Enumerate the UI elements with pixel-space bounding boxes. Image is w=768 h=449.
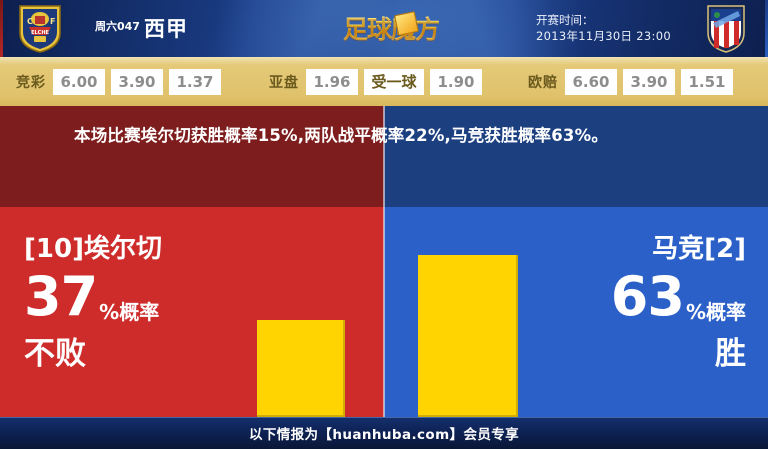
footer-text: 以下情报为【huanhuba.com】会员专享 <box>249 423 519 443</box>
away-team-crest-icon <box>700 3 752 54</box>
odds-cell-away[interactable]: 1.37 <box>169 69 221 95</box>
footer-bar: 以下情报为【huanhuba.com】会员专享 <box>0 417 768 449</box>
odds-bar: 竞彩 6.00 3.90 1.37 亚盘 1.96 受一球 1.90 欧赔 6.… <box>0 57 768 106</box>
away-percent-value: 63 <box>611 265 684 328</box>
round-number: 周六047 <box>95 20 140 33</box>
svg-text:ELCHE: ELCHE <box>31 30 49 36</box>
odds-group-label: 竞彩 <box>16 72 46 92</box>
header-left-edge <box>0 0 3 57</box>
odds-cell-home[interactable]: 6.00 <box>53 69 105 95</box>
svg-text:F: F <box>50 17 55 26</box>
kickoff-time: 开赛时间： 2013年11月30日 23:00 <box>536 12 671 44</box>
odds-cell-away[interactable]: 1.51 <box>681 69 733 95</box>
home-probability-bar <box>257 320 345 417</box>
kickoff-label: 开赛时间： <box>536 12 671 28</box>
match-preview-card: C F ELCHE 周六047西甲 足球魔方 开赛时间： 2013年11月30日… <box>0 0 768 449</box>
brand-logo: 足球魔方 <box>336 9 446 47</box>
home-team-name: [10]埃尔切 <box>24 232 162 266</box>
footer-top-divider <box>0 417 768 418</box>
panel-divider <box>383 106 385 417</box>
away-verdict: 胜 <box>611 334 746 374</box>
home-percent-row: 37%概率 <box>24 270 162 324</box>
league-name: 西甲 <box>144 17 188 41</box>
header-bar: C F ELCHE 周六047西甲 足球魔方 开赛时间： 2013年11月30日… <box>0 0 768 57</box>
kickoff-value: 2013年11月30日 23:00 <box>536 28 671 44</box>
svg-text:C: C <box>27 17 33 26</box>
odds-cell-draw[interactable]: 3.90 <box>111 69 163 95</box>
brand-logo-text: 足球魔方 <box>343 10 439 46</box>
home-team-crest-icon: C F ELCHE <box>14 3 66 54</box>
magic-cube-icon <box>394 11 419 36</box>
home-stats: [10]埃尔切 37%概率 不败 <box>24 232 162 374</box>
home-percent-value: 37 <box>24 265 97 328</box>
odds-group-european[interactable]: 欧赔 6.60 3.90 1.51 <box>528 69 739 95</box>
probability-chart: 本场比赛埃尔切获胜概率15%,两队战平概率22%,马竞获胜概率63%。 [10]… <box>0 106 768 417</box>
odds-cell-draw[interactable]: 3.90 <box>623 69 675 95</box>
away-stats: 马竞[2] 63%概率 胜 <box>611 232 746 374</box>
home-verdict: 不败 <box>24 334 162 374</box>
league-info: 周六047西甲 <box>95 13 188 43</box>
odds-group-label: 欧赔 <box>528 72 558 92</box>
odds-group-jingcai[interactable]: 竞彩 6.00 3.90 1.37 <box>16 69 227 95</box>
away-percent-row: 63%概率 <box>611 270 746 324</box>
away-probability-bar <box>418 255 518 417</box>
odds-group-asian[interactable]: 亚盘 1.96 受一球 1.90 <box>269 69 488 95</box>
away-percent-suffix: %概率 <box>686 300 746 324</box>
odds-group-label: 亚盘 <box>269 72 299 92</box>
home-percent-suffix: %概率 <box>99 300 159 324</box>
odds-cell-handicap[interactable]: 受一球 <box>364 69 424 95</box>
odds-cell-home[interactable]: 6.60 <box>565 69 617 95</box>
headline-text: 本场比赛埃尔切获胜概率15%,两队战平概率22%,马竞获胜概率63%。 <box>74 122 694 150</box>
odds-cell-away[interactable]: 1.90 <box>430 69 482 95</box>
odds-cell-home[interactable]: 1.96 <box>306 69 358 95</box>
away-team-name: 马竞[2] <box>611 232 746 266</box>
